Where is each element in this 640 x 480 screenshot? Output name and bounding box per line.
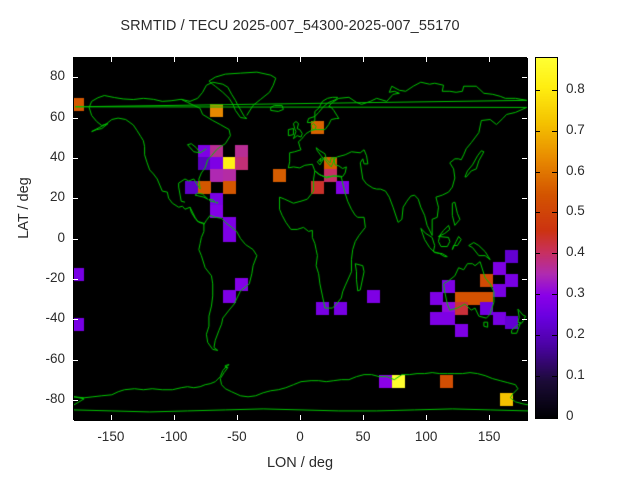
colorbar[interactable] — [535, 57, 558, 419]
figure-root: SRMTID / TECU 2025-007_54300-2025-007_55… — [0, 0, 640, 480]
x-tick-mark — [111, 415, 112, 420]
colorbar-tick-mark — [552, 335, 557, 336]
y-tick-label: -40 — [23, 310, 65, 325]
y-tick-mark — [522, 198, 527, 199]
colorbar-tick-mark — [552, 294, 557, 295]
x-tick-mark — [300, 415, 301, 420]
y-tick-mark — [73, 319, 78, 320]
y-tick-label: 80 — [23, 68, 65, 83]
x-tick-mark — [489, 57, 490, 62]
x-tick-label: 100 — [396, 429, 456, 444]
y-tick-mark — [522, 400, 527, 401]
x-tick-label: 0 — [270, 429, 330, 444]
y-tick-mark — [73, 360, 78, 361]
map-plot-area[interactable] — [73, 57, 527, 420]
x-tick-mark — [237, 57, 238, 62]
x-tick-label: 150 — [459, 429, 519, 444]
y-tick-mark — [522, 319, 527, 320]
colorbar-tick-mark — [535, 90, 540, 91]
x-tick-mark — [174, 415, 175, 420]
x-tick-label: -150 — [81, 429, 141, 444]
x-tick-mark — [174, 57, 175, 62]
colorbar-tick-label: 0.3 — [566, 285, 585, 300]
x-tick-mark — [363, 57, 364, 62]
colorbar-tick-label: 0.2 — [566, 326, 585, 341]
y-tick-label: -80 — [23, 391, 65, 406]
y-axis-label: LAT / deg — [16, 148, 32, 268]
x-tick-mark — [426, 415, 427, 420]
colorbar-tick-label: 0.5 — [566, 203, 585, 218]
y-tick-label: -20 — [23, 270, 65, 285]
x-tick-mark — [489, 415, 490, 420]
colorbar-tick-label: 0.6 — [566, 163, 585, 178]
y-tick-mark — [522, 239, 527, 240]
y-tick-mark — [73, 118, 78, 119]
colorbar-tick-label: 0.8 — [566, 81, 585, 96]
colorbar-tick-mark — [552, 253, 557, 254]
colorbar-tick-mark — [552, 417, 557, 418]
x-tick-label: -100 — [144, 429, 204, 444]
y-tick-mark — [522, 279, 527, 280]
x-tick-mark — [237, 415, 238, 420]
y-tick-mark — [522, 360, 527, 361]
y-tick-mark — [73, 239, 78, 240]
y-tick-mark — [73, 158, 78, 159]
x-tick-mark — [363, 415, 364, 420]
y-tick-mark — [522, 158, 527, 159]
colorbar-tick-mark — [535, 294, 540, 295]
y-tick-mark — [73, 198, 78, 199]
y-tick-mark — [522, 77, 527, 78]
y-tick-label: 60 — [23, 109, 65, 124]
colorbar-tick-mark — [535, 212, 540, 213]
colorbar-tick-label: 0 — [566, 408, 574, 423]
colorbar-tick-mark — [552, 212, 557, 213]
colorbar-gradient — [536, 58, 557, 418]
colorbar-tick-mark — [535, 417, 540, 418]
x-tick-mark — [111, 57, 112, 62]
y-tick-mark — [73, 400, 78, 401]
x-tick-mark — [300, 57, 301, 62]
colorbar-tick-mark — [535, 335, 540, 336]
colorbar-tick-mark — [552, 172, 557, 173]
x-axis-label: LON / deg — [0, 455, 600, 471]
colorbar-tick-mark — [535, 253, 540, 254]
chart-title: SRMTID / TECU 2025-007_54300-2025-007_55… — [0, 18, 580, 34]
colorbar-tick-mark — [552, 90, 557, 91]
y-tick-label: -60 — [23, 351, 65, 366]
colorbar-tick-mark — [552, 376, 557, 377]
heatmap-canvas[interactable] — [74, 58, 528, 421]
colorbar-tick-mark — [552, 131, 557, 132]
x-tick-label: 50 — [333, 429, 393, 444]
y-tick-mark — [73, 77, 78, 78]
colorbar-tick-label: 0.7 — [566, 122, 585, 137]
colorbar-tick-mark — [535, 172, 540, 173]
colorbar-tick-mark — [535, 131, 540, 132]
x-tick-mark — [426, 57, 427, 62]
colorbar-tick-mark — [535, 376, 540, 377]
x-tick-label: -50 — [207, 429, 267, 444]
y-tick-mark — [73, 279, 78, 280]
colorbar-tick-label: 0.4 — [566, 244, 585, 259]
colorbar-tick-label: 0.1 — [566, 367, 585, 382]
y-tick-mark — [522, 118, 527, 119]
